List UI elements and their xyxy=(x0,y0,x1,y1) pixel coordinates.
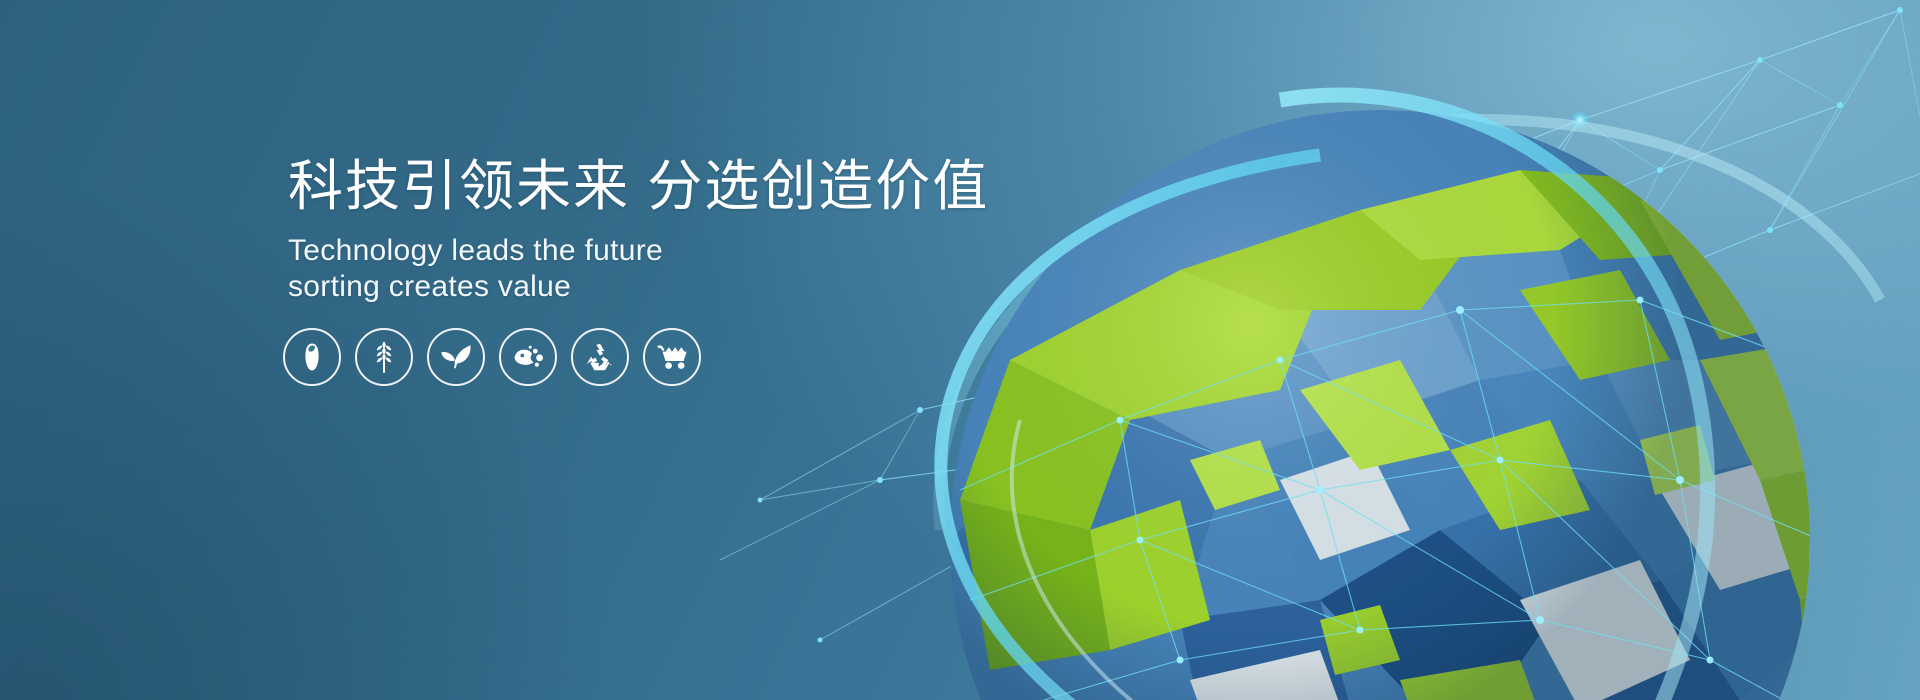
subtitle-line-2: sorting creates value xyxy=(288,269,988,306)
recycle-icon xyxy=(585,342,615,372)
tea-leaf-icon xyxy=(439,343,473,371)
industry-icon-nut-bean[interactable] xyxy=(499,328,557,386)
industry-icon-recycle[interactable] xyxy=(571,328,629,386)
page-title: 科技引领未来 分选创造价值 xyxy=(288,155,988,219)
rice-grain-icon xyxy=(299,342,325,372)
mine-cart-icon xyxy=(655,343,689,371)
industry-icon-mine-cart[interactable] xyxy=(643,328,701,386)
industry-icon-row xyxy=(283,328,701,386)
wheat-icon xyxy=(369,340,399,374)
nut-bean-icon xyxy=(512,344,544,370)
hero-copy-block: 科技引领未来 分选创造价值 Technology leads the futur… xyxy=(288,155,988,306)
industry-icon-tea-leaf[interactable] xyxy=(427,328,485,386)
subtitle-line-1: Technology leads the future xyxy=(288,233,988,270)
industry-icon-rice-grain[interactable] xyxy=(283,328,341,386)
industry-icon-wheat[interactable] xyxy=(355,328,413,386)
hero-banner: 科技引领未来 分选创造价值 Technology leads the futur… xyxy=(0,0,1920,700)
subtitle: Technology leads the future sorting crea… xyxy=(288,233,988,306)
